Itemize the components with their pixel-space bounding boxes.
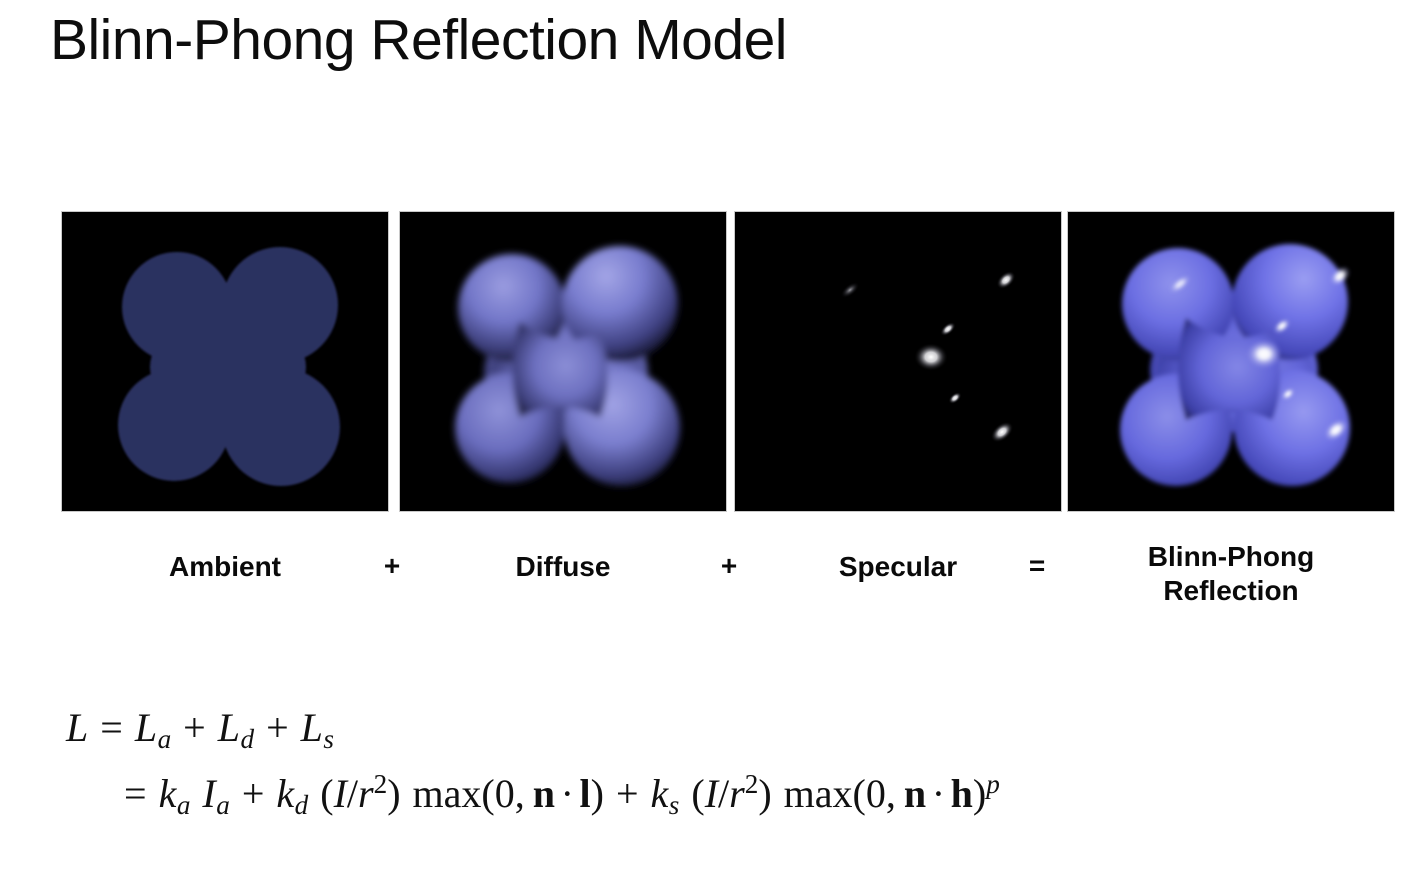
paren-close: ) xyxy=(973,771,986,816)
operator-slash: / xyxy=(347,771,358,816)
paren-open: ( xyxy=(481,771,494,816)
symbol-I: I xyxy=(334,771,347,816)
subscript-a: a xyxy=(176,790,190,820)
page-title: Blinn-Phong Reflection Model xyxy=(50,8,787,74)
formula-block: L=La+Ld+Ls =kaIa+kd(I/r2)max(0,n·l)+ks(I… xyxy=(66,700,1000,812)
combined-render-image xyxy=(1068,212,1394,511)
subscript-a: a xyxy=(216,790,230,820)
symbol-L: L xyxy=(301,705,323,750)
superscript-2: 2 xyxy=(745,769,759,799)
operator-plus: + xyxy=(242,771,265,816)
operator-equals: = xyxy=(100,705,123,750)
operator-plus: + xyxy=(616,771,639,816)
comma: , xyxy=(886,771,896,816)
operator-plus: + xyxy=(266,705,289,750)
vector-h: h xyxy=(951,771,973,816)
superscript-2: 2 xyxy=(374,769,388,799)
number-zero: 0 xyxy=(495,771,515,816)
vector-n: n xyxy=(904,771,926,816)
render-panel-diffuse xyxy=(400,212,726,511)
function-max: max xyxy=(413,771,482,816)
ambient-render-image xyxy=(62,212,388,511)
subscript-d: d xyxy=(240,724,254,754)
symbol-L: L xyxy=(66,705,88,750)
function-max: max xyxy=(784,771,853,816)
formula-line-2: =kaIa+kd(I/r2)max(0,n·l)+ks(I/r2)max(0,n… xyxy=(66,756,1000,812)
symbol-L: L xyxy=(135,705,157,750)
figure-captions-row: Ambient + Diffuse + Specular = Blinn-Pho… xyxy=(62,540,1394,640)
formula-line-1: L=La+Ld+Ls xyxy=(66,700,1000,756)
caption-combined-line-2: Reflection xyxy=(1068,574,1394,608)
symbol-I: I xyxy=(202,771,215,816)
superscript-p: p xyxy=(986,769,1000,799)
paren-close: ) xyxy=(758,771,771,816)
paren-open: ( xyxy=(320,771,333,816)
subscript-s: s xyxy=(323,724,334,754)
symbol-I: I xyxy=(705,771,718,816)
comma: , xyxy=(515,771,525,816)
paren-close: ) xyxy=(387,771,400,816)
diffuse-render-image xyxy=(400,212,726,511)
caption-combined-line-1: Blinn-Phong xyxy=(1068,540,1394,574)
operator-dot-product: · xyxy=(555,771,580,816)
operator-equals-icon: = xyxy=(1017,550,1057,582)
symbol-k: k xyxy=(276,771,294,816)
figure-strip xyxy=(62,212,1394,511)
vector-l: l xyxy=(580,771,591,816)
subscript-d: d xyxy=(294,790,308,820)
operator-equals: = xyxy=(124,771,147,816)
symbol-r: r xyxy=(358,771,374,816)
subscript-s: s xyxy=(668,790,679,820)
render-panel-specular xyxy=(735,212,1061,511)
paren-close: ) xyxy=(591,771,604,816)
symbol-r: r xyxy=(729,771,745,816)
symbol-k: k xyxy=(651,771,669,816)
specular-render-image xyxy=(735,212,1061,511)
symbol-k: k xyxy=(159,771,177,816)
caption-specular: Specular xyxy=(735,550,1061,584)
symbol-L: L xyxy=(218,705,240,750)
operator-plus: + xyxy=(183,705,206,750)
number-zero: 0 xyxy=(866,771,886,816)
caption-ambient: Ambient xyxy=(62,550,388,584)
render-panel-combined xyxy=(1068,212,1394,511)
paren-open: ( xyxy=(691,771,704,816)
operator-dot-product: · xyxy=(926,771,951,816)
operator-slash: / xyxy=(718,771,729,816)
caption-diffuse: Diffuse xyxy=(400,550,726,584)
paren-open: ( xyxy=(853,771,866,816)
subscript-a: a xyxy=(157,724,171,754)
render-panel-ambient xyxy=(62,212,388,511)
vector-n: n xyxy=(533,771,555,816)
caption-combined: Blinn-Phong Reflection xyxy=(1068,540,1394,608)
